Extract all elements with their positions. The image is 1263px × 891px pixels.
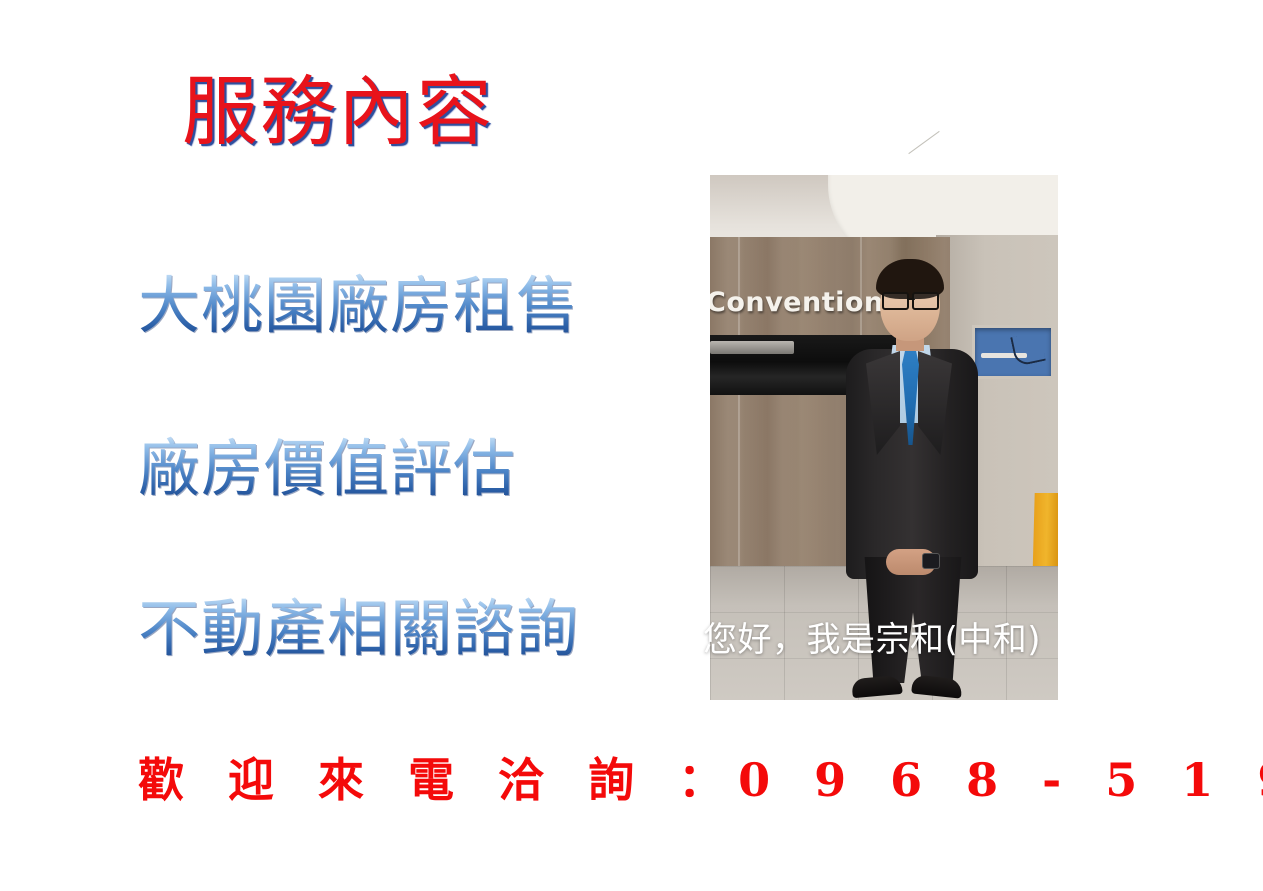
slide-canvas: 服務內容 大桃園廠房租售 廠房價值評估 不動產相關諮詢 Convention C… bbox=[0, 0, 1263, 891]
person-shoe-left bbox=[851, 675, 902, 698]
photo-caption: 您好，我是宗和(中和) bbox=[703, 612, 1041, 661]
contact-phone-number: 0 9 6 8 - 5 1 9 - 8 8 8 bbox=[738, 753, 1263, 807]
person-glasses bbox=[882, 292, 939, 307]
service-item-1: 大桃園廠房租售 bbox=[138, 255, 579, 345]
person-shoe-right bbox=[911, 674, 963, 698]
contact-prompt: 歡 迎 來 電 洽 詢 ： bbox=[138, 753, 738, 807]
contact-line: 歡 迎 來 電 洽 詢 ：0 9 6 8 - 5 1 9 - 8 8 8 bbox=[138, 744, 1263, 810]
service-item-2: 廠房價值評估 bbox=[138, 418, 516, 508]
person-wristwatch bbox=[922, 553, 940, 569]
service-item-3: 不動產相關諮詢 bbox=[138, 578, 579, 668]
diagonal-line-artifact bbox=[908, 131, 939, 154]
page-title: 服務內容 bbox=[182, 72, 494, 152]
